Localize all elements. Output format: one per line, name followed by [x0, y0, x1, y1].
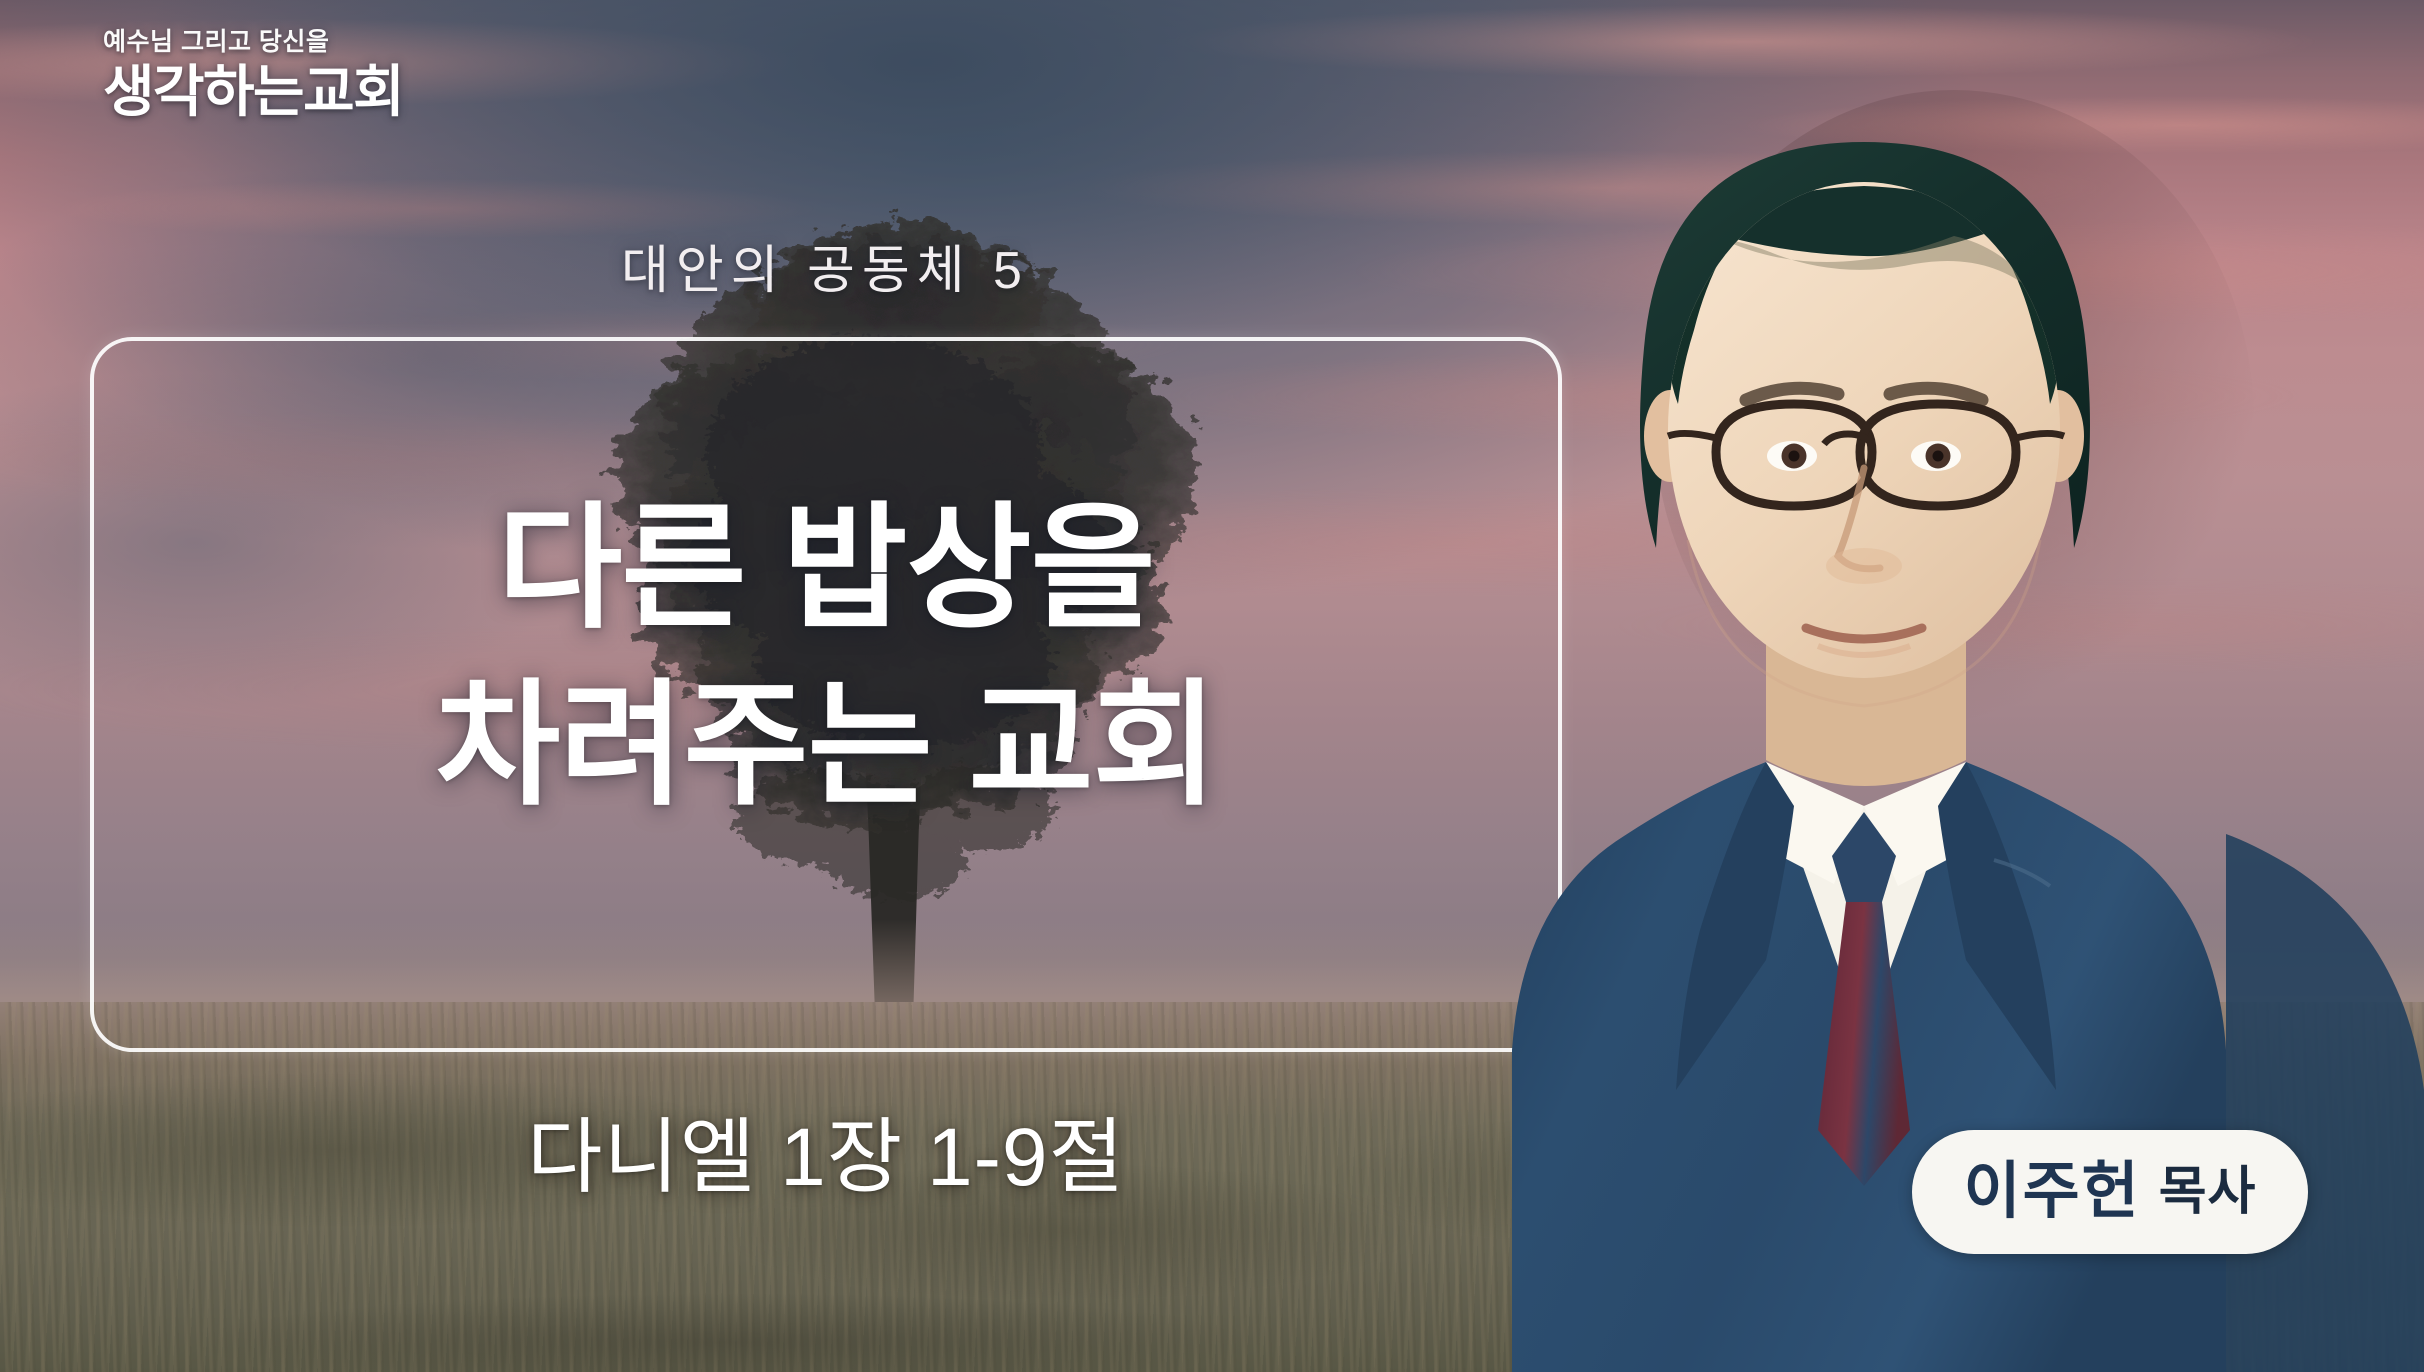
speaker-name-badge: 이주헌 목사: [1912, 1130, 2308, 1254]
speaker-title: 목사: [2159, 1166, 2257, 1218]
scripture-reference: 다니엘 1장 1-9절: [90, 1090, 1562, 1209]
sermon-title-card: 예수님 그리고 당신을 생각하는교회 대안의 공동체 5 다른 밥상을 차려주는…: [0, 0, 2424, 1372]
sermon-title-line-1: 다른 밥상을: [90, 480, 1562, 657]
speaker-name: 이주헌: [1964, 1161, 2141, 1223]
church-logo: 예수님 그리고 당신을 생각하는교회: [103, 30, 403, 120]
sermon-series-label: 대안의 공동체 5: [0, 228, 1650, 303]
church-logo-tagline: 예수님 그리고 당신을: [103, 30, 403, 55]
sermon-title: 다른 밥상을 차려주는 교회: [90, 480, 1562, 834]
sermon-title-line-2: 차려주는 교회: [90, 657, 1562, 834]
church-logo-name: 생각하는교회: [103, 64, 403, 120]
